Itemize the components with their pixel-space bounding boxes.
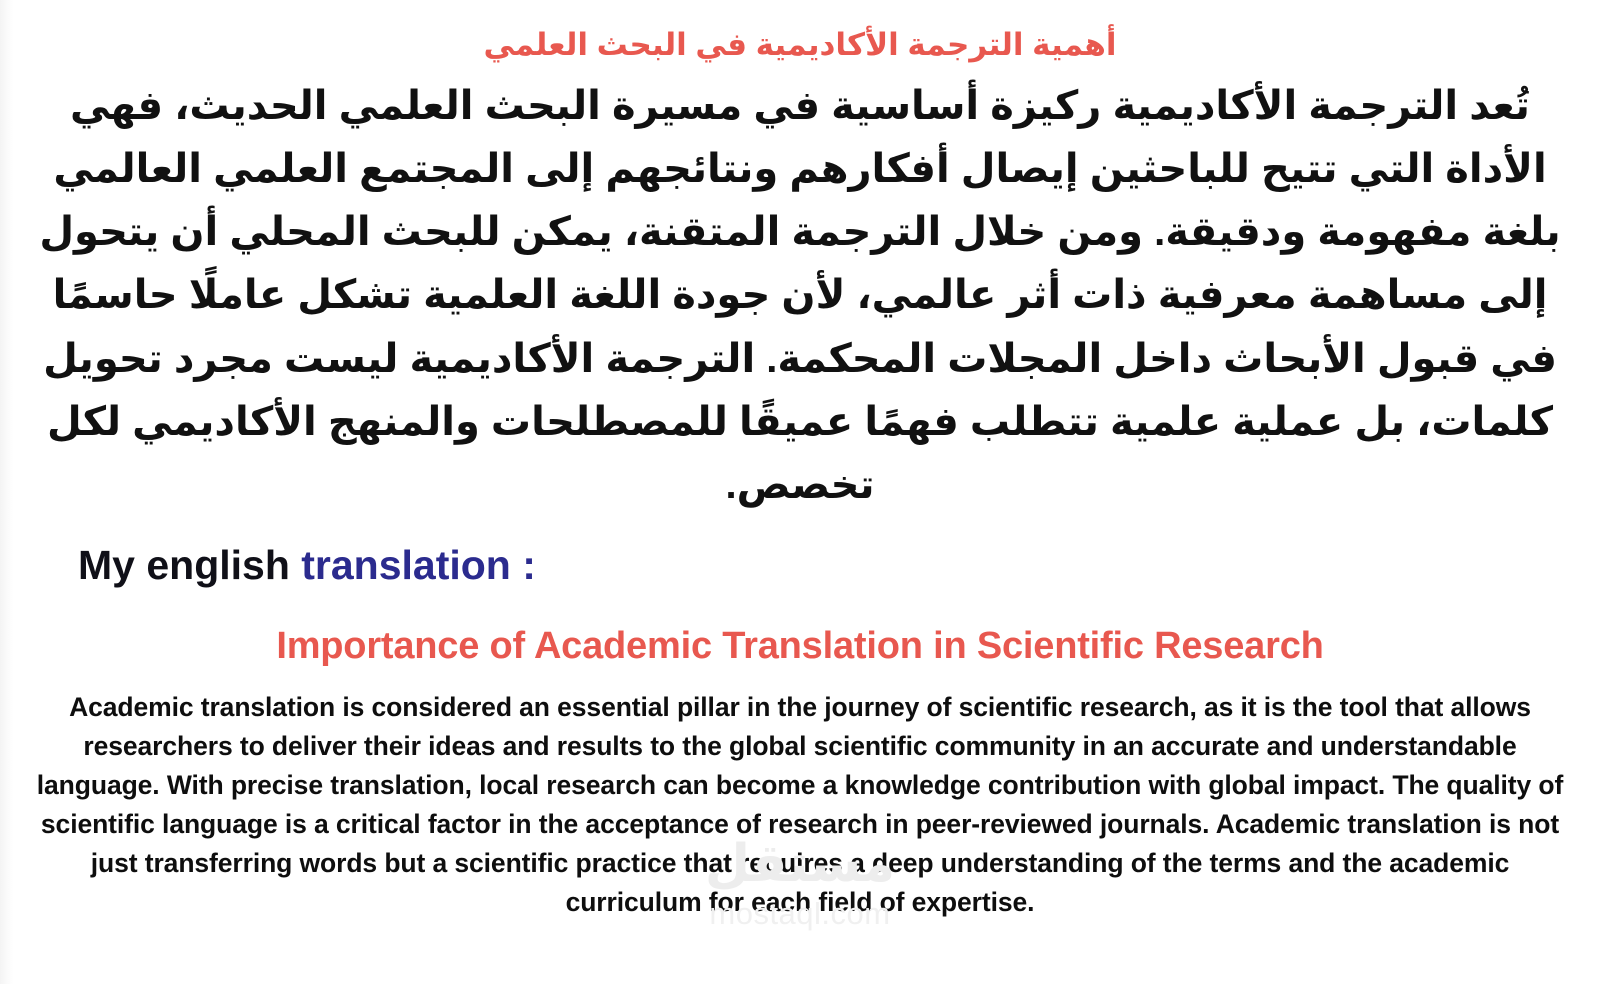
document-page: أهمية الترجمة الأكاديمية في البحث العلمي…	[0, 0, 1600, 984]
translation-label-row: My english translation :	[0, 517, 1600, 590]
arabic-body-paragraph: تُعد الترجمة الأكاديمية ركيزة أساسية في …	[22, 65, 1578, 517]
translation-label-blue-part: translation :	[301, 542, 536, 588]
arabic-section: أهمية الترجمة الأكاديمية في البحث العلمي…	[0, 0, 1600, 517]
english-title: Importance of Academic Translation in Sc…	[26, 590, 1574, 670]
english-section: Importance of Academic Translation in Sc…	[0, 590, 1600, 921]
translation-label-dark-part: My english	[78, 542, 301, 588]
english-body-paragraph: Academic translation is considered an es…	[26, 670, 1574, 922]
translation-label: My english translation :	[78, 541, 536, 590]
arabic-title: أهمية الترجمة الأكاديمية في البحث العلمي	[22, 0, 1578, 65]
